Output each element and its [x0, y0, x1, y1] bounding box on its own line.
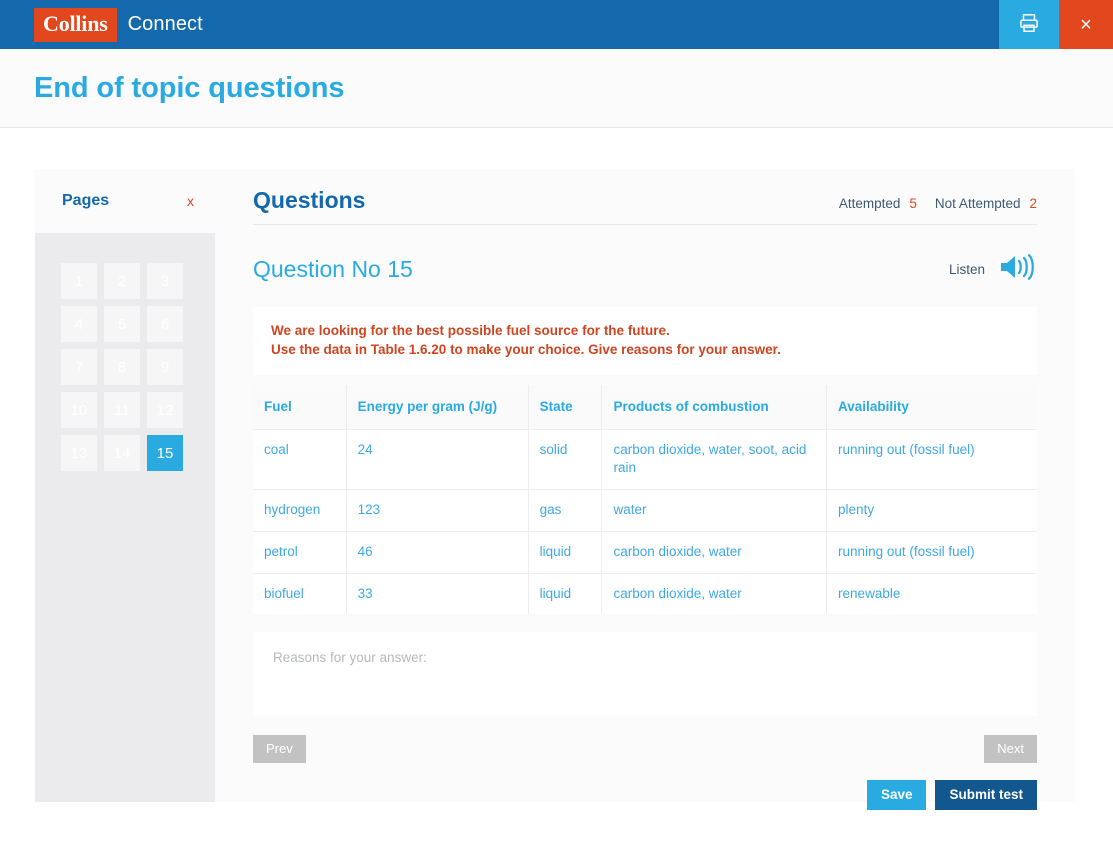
table-cell-availability: plenty: [827, 489, 1037, 531]
page-cell-12[interactable]: 12: [147, 392, 183, 428]
pages-header: Pages x: [35, 169, 215, 233]
table-cell-fuel: coal: [253, 430, 346, 490]
prompt-line-2: Use the data in Table 1.6.20 to make you…: [271, 340, 1019, 359]
not-attempted-value: 2: [1029, 196, 1037, 211]
table-cell-energy-per-gram-j-g: 46: [346, 531, 528, 573]
table-column-header-0: Fuel: [253, 385, 346, 430]
fuel-data-table: FuelEnergy per gram (J/g)StateProducts o…: [253, 385, 1037, 614]
collins-logo: Collins: [34, 8, 117, 42]
table-cell-state: liquid: [528, 573, 602, 614]
table-cell-availability: running out (fossil fuel): [827, 531, 1037, 573]
prompt-line-1: We are looking for the best possible fue…: [271, 321, 1019, 340]
page-cell-7[interactable]: 7: [61, 349, 97, 385]
page-cell-2[interactable]: 2: [104, 263, 140, 299]
table-cell-fuel: biofuel: [253, 573, 346, 614]
page-cell-11[interactable]: 11: [104, 392, 140, 428]
page-cell-1[interactable]: 1: [61, 263, 97, 299]
stat-attempted: Attempted 5: [839, 196, 917, 211]
table-column-header-2: State: [528, 385, 602, 430]
top-bar-actions: ×: [999, 0, 1113, 49]
questions-panel: Questions Attempted 5 Not Attempted 2 Qu…: [215, 169, 1075, 802]
pages-close-icon[interactable]: x: [183, 191, 198, 211]
table-column-header-3: Products of combustion: [602, 385, 827, 430]
table-cell-products-of-combustion: carbon dioxide, water: [602, 531, 827, 573]
pages-panel: Pages x 123456789101112131415: [35, 169, 215, 802]
table-cell-energy-per-gram-j-g: 123: [346, 489, 528, 531]
navigation-row: Prev Next: [253, 735, 1037, 763]
top-bar: Collins Connect ×: [0, 0, 1113, 49]
table-header: FuelEnergy per gram (J/g)StateProducts o…: [253, 385, 1037, 430]
page-cell-8[interactable]: 8: [104, 349, 140, 385]
connect-wordmark: Connect: [128, 13, 203, 36]
next-button[interactable]: Next: [984, 735, 1037, 763]
page-cell-14[interactable]: 14: [104, 435, 140, 471]
question-number: Question No 15: [253, 256, 413, 283]
page-cell-9[interactable]: 9: [147, 349, 183, 385]
speaker-icon: [997, 252, 1037, 287]
table-cell-availability: running out (fossil fuel): [827, 430, 1037, 490]
question-stats: Attempted 5 Not Attempted 2: [831, 196, 1037, 214]
prev-button[interactable]: Prev: [253, 735, 306, 763]
questions-heading: Questions: [253, 187, 365, 214]
table-cell-products-of-combustion: carbon dioxide, water, soot, acid rain: [602, 430, 827, 490]
table-column-header-1: Energy per gram (J/g): [346, 385, 528, 430]
page-cell-15[interactable]: 15: [147, 435, 183, 471]
table-row: biofuel33liquidcarbon dioxide, waterrene…: [253, 573, 1037, 614]
table-cell-fuel: petrol: [253, 531, 346, 573]
action-row: Save Submit test: [253, 780, 1037, 810]
listen-button[interactable]: Listen: [949, 252, 1037, 287]
workspace: Pages x 123456789101112131415 Questions …: [0, 128, 1113, 841]
question-prompt: We are looking for the best possible fue…: [253, 307, 1037, 375]
table-cell-state: gas: [528, 489, 602, 531]
not-attempted-label: Not Attempted: [935, 196, 1021, 211]
listen-label: Listen: [949, 262, 985, 277]
table-cell-state: liquid: [528, 531, 602, 573]
questions-header: Questions Attempted 5 Not Attempted 2: [253, 169, 1037, 225]
submit-test-button[interactable]: Submit test: [935, 780, 1037, 810]
answer-input[interactable]: [253, 632, 1037, 716]
printer-icon: [1018, 12, 1040, 37]
page-cell-6[interactable]: 6: [147, 306, 183, 342]
close-button[interactable]: ×: [1059, 0, 1113, 49]
page-cell-5[interactable]: 5: [104, 306, 140, 342]
table-cell-energy-per-gram-j-g: 33: [346, 573, 528, 614]
table-body: coal24solidcarbon dioxide, water, soot, …: [253, 430, 1037, 615]
table-cell-products-of-combustion: carbon dioxide, water: [602, 573, 827, 614]
table-header-row: FuelEnergy per gram (J/g)StateProducts o…: [253, 385, 1037, 430]
pages-grid: 123456789101112131415: [35, 233, 215, 471]
page-cell-13[interactable]: 13: [61, 435, 97, 471]
attempted-value: 5: [909, 196, 917, 211]
table-row: petrol46liquidcarbon dioxide, waterrunni…: [253, 531, 1037, 573]
table-cell-state: solid: [528, 430, 602, 490]
stat-not-attempted: Not Attempted 2: [935, 196, 1037, 211]
table-cell-energy-per-gram-j-g: 24: [346, 430, 528, 490]
table-row: coal24solidcarbon dioxide, water, soot, …: [253, 430, 1037, 490]
page-title: End of topic questions: [34, 72, 344, 105]
table-cell-products-of-combustion: water: [602, 489, 827, 531]
page-cell-10[interactable]: 10: [61, 392, 97, 428]
table-row: hydrogen123gaswaterplenty: [253, 489, 1037, 531]
page-cell-3[interactable]: 3: [147, 263, 183, 299]
save-button[interactable]: Save: [867, 780, 927, 810]
title-band: End of topic questions: [0, 49, 1113, 128]
table-column-header-4: Availability: [827, 385, 1037, 430]
table-cell-availability: renewable: [827, 573, 1037, 614]
table-cell-fuel: hydrogen: [253, 489, 346, 531]
brand: Collins Connect: [34, 0, 203, 49]
question-number-row: Question No 15 Listen: [253, 225, 1037, 287]
print-button[interactable]: [999, 0, 1059, 49]
page-cell-4[interactable]: 4: [61, 306, 97, 342]
attempted-label: Attempted: [839, 196, 901, 211]
pages-title: Pages: [62, 192, 109, 210]
